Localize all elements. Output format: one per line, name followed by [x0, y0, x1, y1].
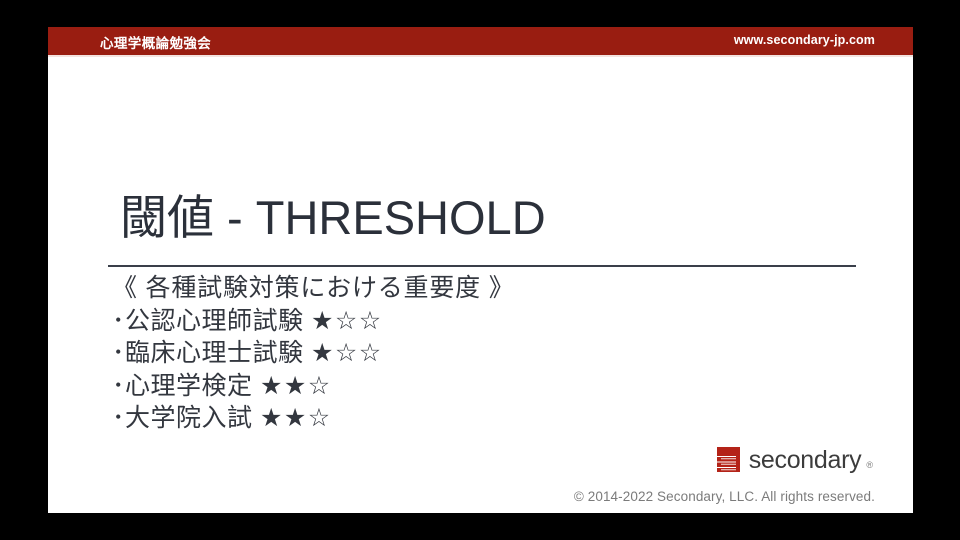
rating-stars: ★☆☆ [311, 306, 383, 335]
slide-viewer: 心理学概論勉強会 www.secondary-jp.com 閾値 - THRES… [0, 0, 960, 540]
list-item: ･心理学検定 ★★☆ [112, 370, 872, 403]
logo-wordmark: secondary [749, 448, 862, 473]
rating-stars: ★☆☆ [311, 338, 383, 367]
slide-header-title: 心理学概論勉強会 [100, 32, 211, 52]
slide-main-title: 閾値 - THRESHOLD [120, 192, 546, 245]
secondary-logo: secondary ® [715, 445, 875, 473]
list-item-label: ･心理学検定 [112, 372, 253, 400]
copyright-notice: © 2014-2022 Secondary, LLC. All rights r… [574, 489, 875, 504]
list-item-label: ･公認心理師試験 [112, 307, 304, 335]
slide-header-bar: 心理学概論勉強会 www.secondary-jp.com [48, 27, 913, 55]
list-item-label: ･大学院入試 [112, 404, 253, 432]
stacked-books-icon [715, 445, 742, 473]
list-item: ･臨床心理士試験 ★☆☆ [112, 337, 872, 370]
slide-body: 《 各種試験対策における重要度 》 ･公認心理師試験 ★☆☆ ･臨床心理士試験 … [112, 273, 872, 435]
list-item: ･大学院入試 ★★☆ [112, 402, 872, 435]
rating-stars: ★★☆ [260, 403, 332, 432]
title-divider-rule [108, 265, 856, 267]
registered-trademark-icon: ® [866, 460, 873, 470]
list-item: ･公認心理師試験 ★☆☆ [112, 305, 872, 338]
rating-stars: ★★☆ [260, 371, 332, 400]
slide-canvas: 心理学概論勉強会 www.secondary-jp.com 閾値 - THRES… [48, 27, 913, 513]
body-heading: 《 各種試験対策における重要度 》 [112, 273, 872, 305]
slide-header-url: www.secondary-jp.com [734, 33, 875, 47]
list-item-label: ･臨床心理士試験 [112, 339, 304, 367]
